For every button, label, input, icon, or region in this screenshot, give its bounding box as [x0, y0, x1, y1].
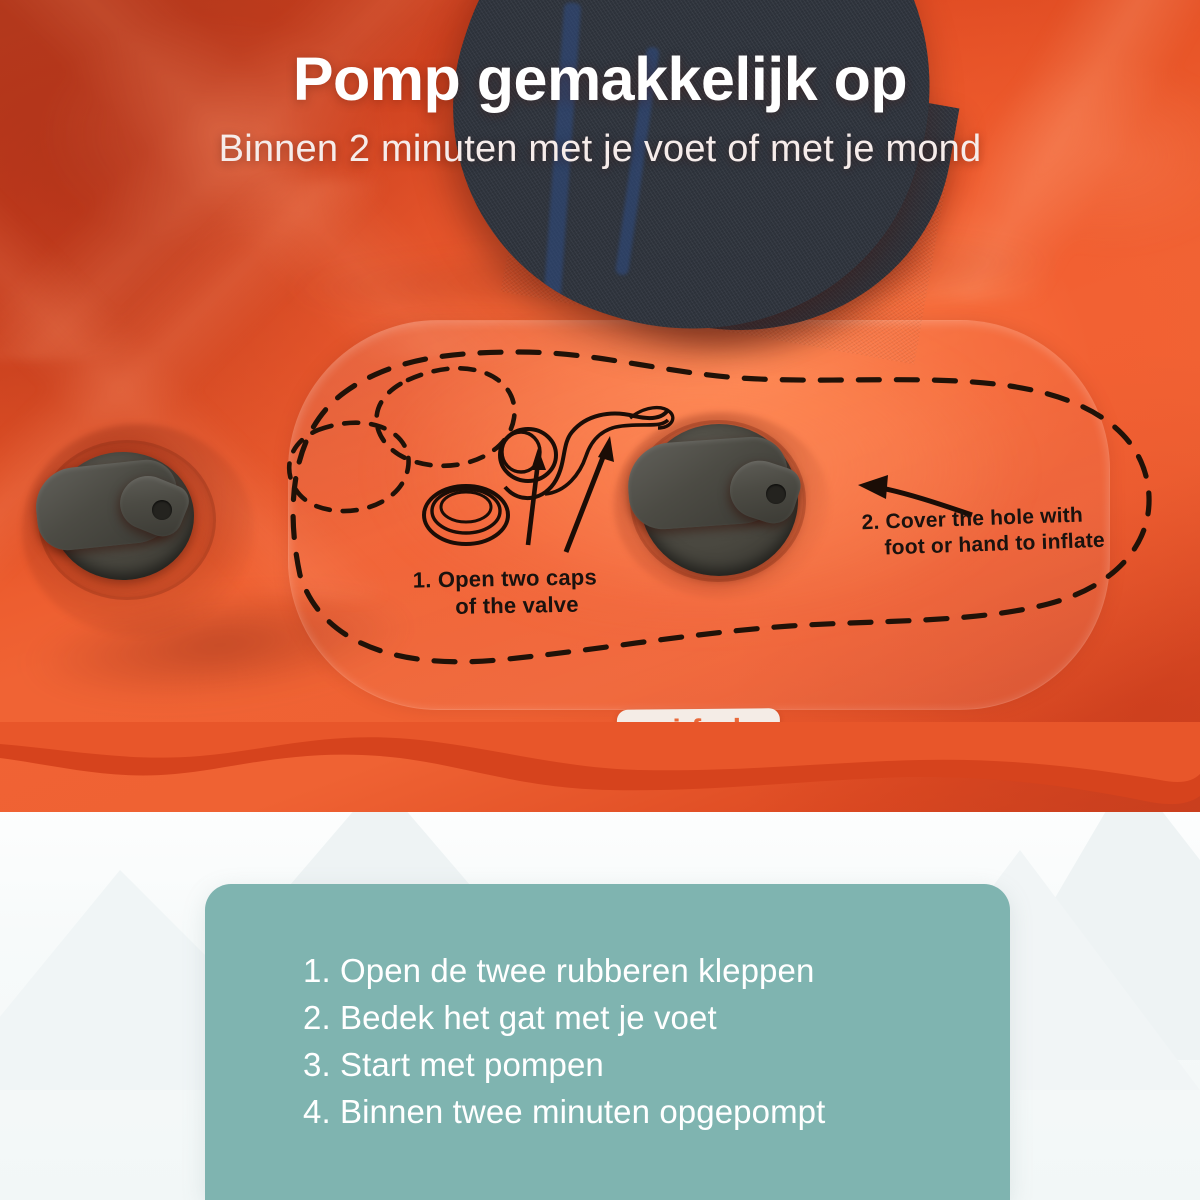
arrow-1b-shaft: [566, 452, 605, 552]
list-item: 2. Bedek het gat met je voet: [303, 995, 825, 1042]
list-item: 1. Open de twee rubberen kleppen: [303, 948, 825, 995]
product-photo: 1. Open two caps of the valve 2. Cover t…: [0, 0, 1200, 812]
page-subtitle: Binnen 2 minuten met je voet of met je m…: [0, 128, 1200, 171]
arrow-1a-head: [531, 448, 546, 470]
photo-note-1-line-1: 1. Open two caps: [413, 564, 598, 594]
dashed-circle-small-a: [377, 368, 515, 466]
page-title: Pomp gemakkelijk op: [0, 44, 1200, 114]
list-item: 4. Binnen twee minuten opgepompt: [303, 1089, 825, 1136]
photo-note-open-caps: 1. Open two caps of the valve: [413, 564, 598, 621]
steps-list: 1. Open de twee rubberen kleppen 2. Bede…: [303, 948, 825, 1135]
valve-ring-drawing-outer: [424, 486, 508, 544]
photo-note-cover-hole: 2. Cover the hole with foot or hand to i…: [861, 502, 1105, 562]
arrow-2-head: [858, 475, 888, 499]
annotation-drawing: [0, 0, 1200, 812]
list-item: 3. Start met pompen: [303, 1042, 825, 1089]
arrow-1a-shaft: [528, 462, 538, 545]
mat-bottom-edge: [0, 722, 1200, 812]
steps-card: 1. Open de twee rubberen kleppen 2. Bede…: [205, 884, 1010, 1200]
valve-ring-drawing-inner: [441, 492, 491, 522]
poster-canvas: 1. Open two caps of the valve 2. Cover t…: [0, 0, 1200, 1200]
dashed-circle-small-b: [289, 423, 408, 511]
photo-note-1-line-2: of the valve: [455, 591, 598, 620]
